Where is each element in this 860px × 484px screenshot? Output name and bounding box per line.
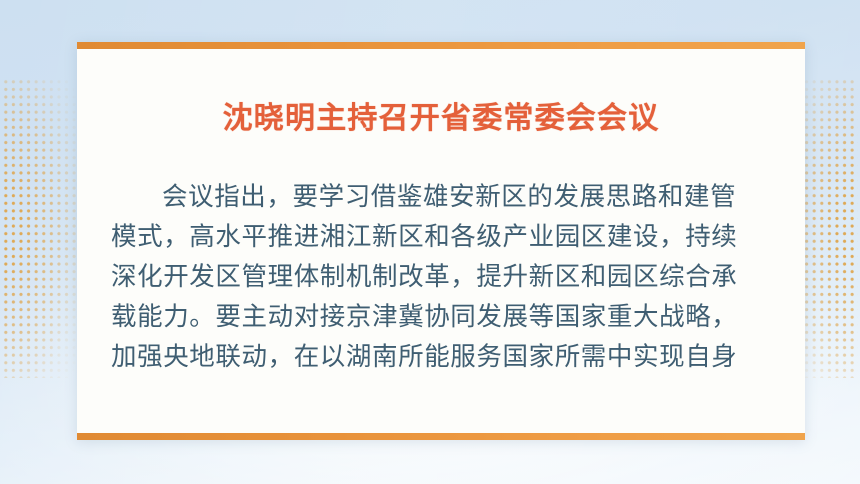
- body-line: 深化开发区管理体制机制改革，提升新区和园区综合承: [111, 257, 771, 297]
- body-line: 模式，高水平推进湘江新区和各级产业园区建设，持续: [111, 217, 771, 257]
- card-top-rule: [77, 42, 805, 49]
- card-bottom-rule: [77, 433, 805, 440]
- slide-canvas: 沈晓明主持召开省委常委会会议 会议指出，要学习借鉴雄安新区的发展思路和建管 模式…: [0, 0, 860, 484]
- page-title: 沈晓明主持召开省委常委会会议: [111, 49, 771, 137]
- card-content: 沈晓明主持召开省委常委会会议 会议指出，要学习借鉴雄安新区的发展思路和建管 模式…: [77, 49, 805, 433]
- body-line: 加强央地联动，在以湖南所能服务国家所需中实现自身: [111, 337, 771, 377]
- content-card: 沈晓明主持召开省委常委会会议 会议指出，要学习借鉴雄安新区的发展思路和建管 模式…: [77, 42, 805, 440]
- body-paragraph: 会议指出，要学习借鉴雄安新区的发展思路和建管 模式，高水平推进湘江新区和各级产业…: [111, 177, 771, 377]
- body-line: 会议指出，要学习借鉴雄安新区的发展思路和建管: [111, 177, 771, 217]
- dot-matrix-left-icon: [2, 78, 80, 378]
- body-line: 载能力。要主动对接京津冀协同发展等国家重大战略，: [111, 297, 771, 337]
